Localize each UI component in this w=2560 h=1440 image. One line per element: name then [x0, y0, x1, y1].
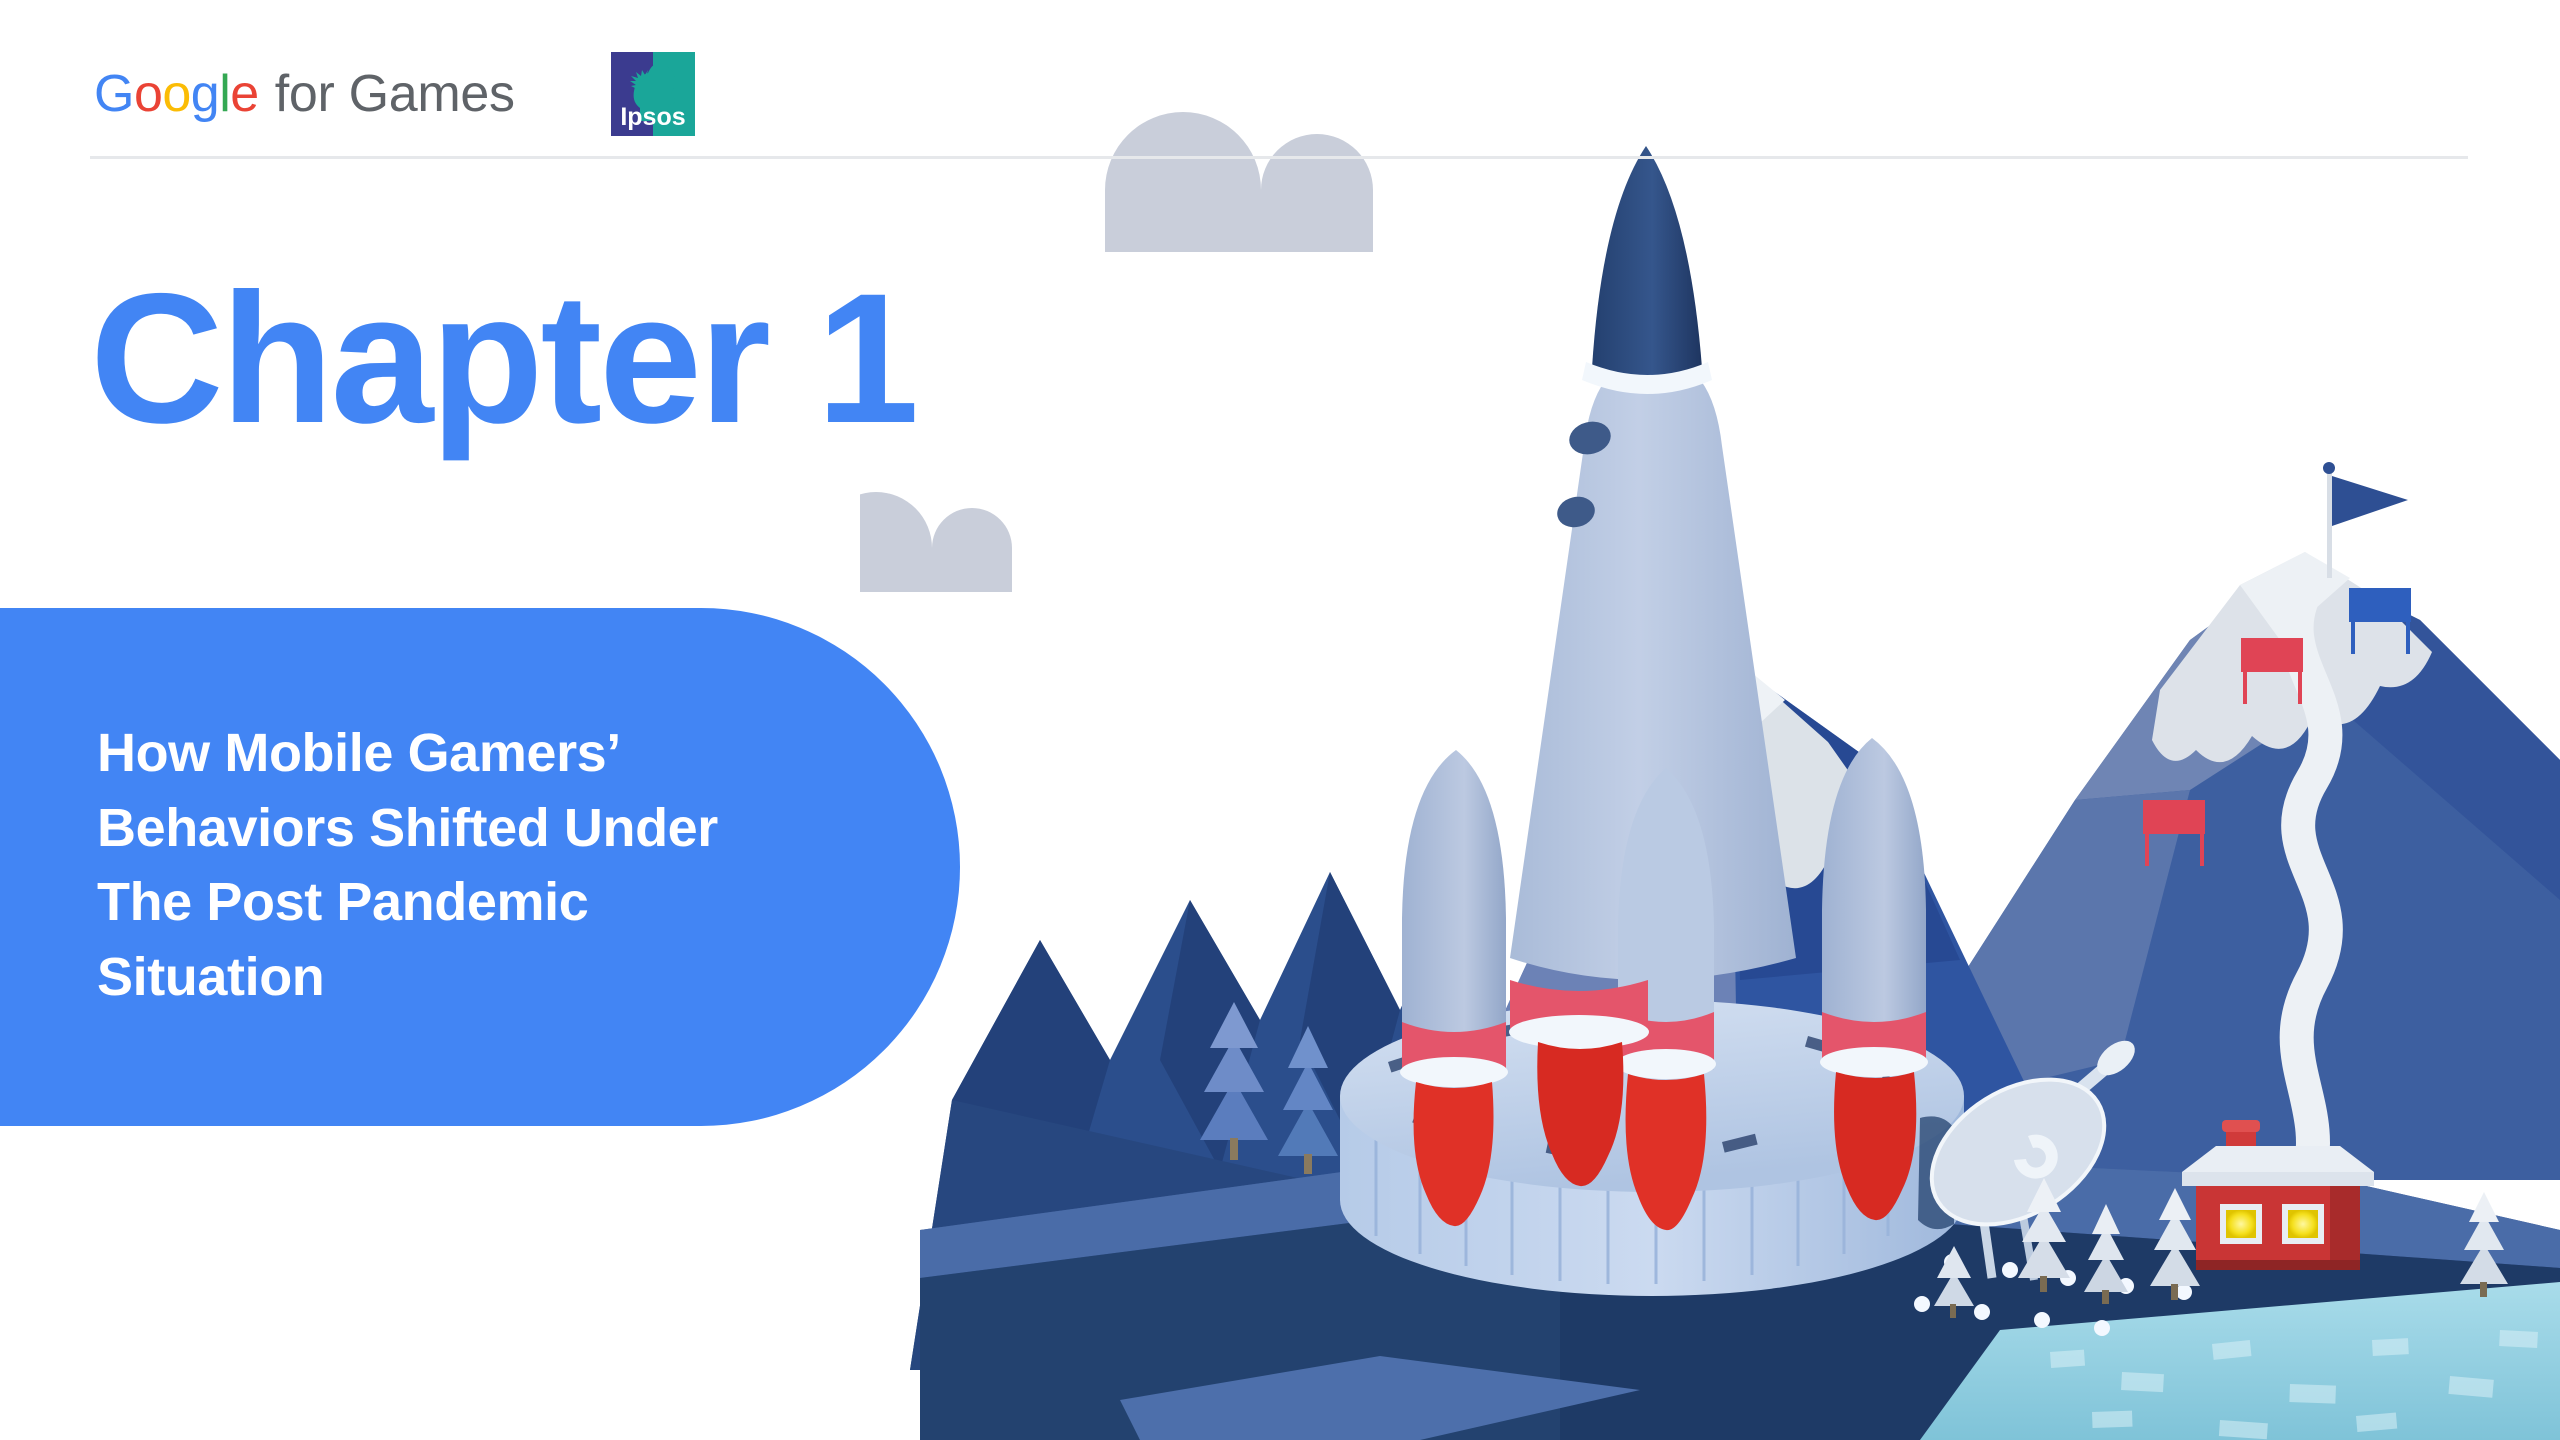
ipsos-logo[interactable]: Ipsos — [611, 52, 695, 136]
page-title: Chapter 1 — [90, 262, 916, 456]
rocket-nose-cone — [1592, 146, 1702, 379]
subtitle-pill: How Mobile Gamers’ Behaviors Shifted Und… — [0, 608, 960, 1126]
google-logo-suffix: for Games — [275, 68, 515, 120]
google-letter-g2: g — [191, 68, 219, 120]
rocket — [1400, 146, 1928, 1230]
header-divider — [90, 156, 2468, 159]
subtitle-line-1: How Mobile Gamers’ — [97, 716, 887, 791]
google-for-games-logo[interactable]: G o o g l e for Games — [94, 68, 515, 120]
google-letter-e: e — [230, 68, 258, 120]
illustration-3d-rocket-scene — [860, 0, 2560, 1440]
subtitle-line-4: Situation — [97, 940, 887, 1015]
google-letter-g1: G — [94, 68, 134, 120]
header: G o o g l e for Games Ipsos — [0, 0, 2560, 160]
ipsos-wordmark: Ipsos — [620, 103, 685, 131]
google-letter-l: l — [219, 68, 230, 120]
google-letter-o2: o — [162, 68, 190, 120]
subtitle-text: How Mobile Gamers’ Behaviors Shifted Und… — [97, 716, 887, 1014]
cloud-icon-left — [860, 492, 1012, 592]
slide: G o o g l e for Games Ipsos — [0, 0, 2560, 1440]
subtitle-line-2: Behaviors Shifted Under — [97, 791, 887, 866]
google-letter-o1: o — [134, 68, 162, 120]
subtitle-line-3: The Post Pandemic — [97, 865, 887, 940]
summit-flag-icon — [2323, 462, 2408, 578]
rocket-fin-left — [1402, 750, 1506, 1066]
logo-row: G o o g l e for Games Ipsos — [94, 52, 695, 136]
